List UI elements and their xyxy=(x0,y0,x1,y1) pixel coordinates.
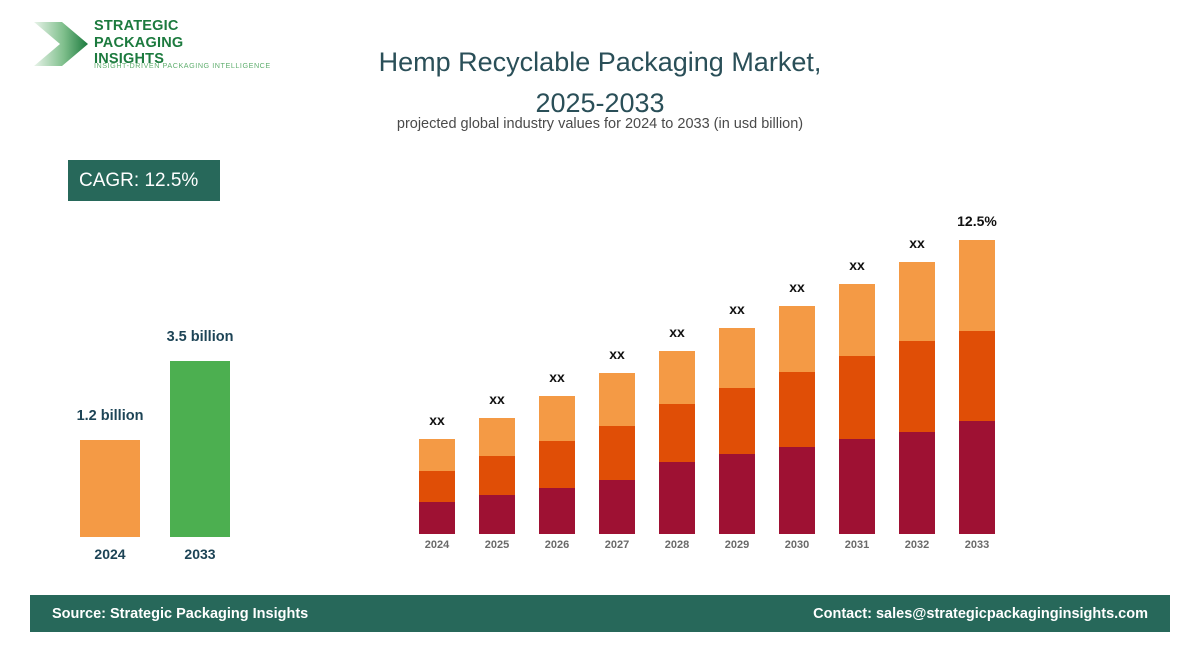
stacked-bar-2032 xyxy=(899,262,935,534)
stacked-bar-chart: xx2024xx2025xx2026xx2027xx2028xx2029xx20… xyxy=(0,0,1200,600)
stacked-bar-segment-segment-3-2033 xyxy=(959,240,995,331)
stacked-bar-value-label-2028: xx xyxy=(642,324,712,340)
stacked-bar-segment-segment-1-2031 xyxy=(839,439,875,534)
stacked-bar-segment-segment-2-2032 xyxy=(899,341,935,432)
stacked-bar-year-label-2033: 2033 xyxy=(942,539,1012,551)
stacked-bar-segment-segment-1-2033 xyxy=(959,421,995,534)
stacked-bar-segment-segment-3-2031 xyxy=(839,284,875,356)
stacked-bar-segment-segment-3-2032 xyxy=(899,262,935,341)
stacked-bar-value-label-2031: xx xyxy=(822,257,892,273)
stacked-bar-segment-segment-2-2026 xyxy=(539,441,575,488)
stacked-bar-segment-segment-2-2028 xyxy=(659,404,695,462)
stacked-bar-value-label-2029: xx xyxy=(702,301,772,317)
stacked-bar-segment-segment-3-2029 xyxy=(719,328,755,388)
stacked-bar-segment-segment-1-2029 xyxy=(719,454,755,534)
stacked-bar-2027 xyxy=(599,373,635,534)
stacked-bar-value-label-2026: xx xyxy=(522,369,592,385)
stacked-bar-segment-segment-2-2025 xyxy=(479,456,515,495)
stacked-bar-segment-segment-1-2025 xyxy=(479,495,515,534)
stacked-bar-2030 xyxy=(779,306,815,534)
stacked-bar-2025 xyxy=(479,418,515,534)
stacked-bar-2029 xyxy=(719,328,755,534)
stacked-bar-2026 xyxy=(539,396,575,534)
stacked-bar-2033 xyxy=(959,240,995,534)
stacked-bar-2028 xyxy=(659,351,695,534)
stacked-bar-segment-segment-1-2028 xyxy=(659,462,695,534)
footer-bar: Source: Strategic Packaging Insights Con… xyxy=(30,595,1170,632)
stacked-bar-segment-segment-2-2029 xyxy=(719,388,755,454)
stacked-bar-segment-segment-2-2033 xyxy=(959,331,995,421)
stacked-bar-segment-segment-3-2024 xyxy=(419,439,455,471)
stacked-bar-2024 xyxy=(419,439,455,534)
stacked-bar-value-label-2030: xx xyxy=(762,279,832,295)
stacked-bar-segment-segment-1-2027 xyxy=(599,480,635,534)
footer-contact: Contact: sales@strategicpackaginginsight… xyxy=(813,606,1148,622)
stacked-bar-segment-segment-2-2027 xyxy=(599,426,635,480)
stacked-bar-segment-segment-3-2027 xyxy=(599,373,635,426)
stacked-bar-segment-segment-1-2026 xyxy=(539,488,575,534)
stacked-bar-segment-segment-2-2030 xyxy=(779,372,815,447)
stacked-bar-segment-segment-3-2026 xyxy=(539,396,575,441)
stacked-bar-segment-segment-1-2030 xyxy=(779,447,815,534)
stacked-bar-segment-segment-3-2030 xyxy=(779,306,815,372)
stacked-bar-segment-segment-2-2024 xyxy=(419,471,455,502)
stacked-bar-segment-segment-2-2031 xyxy=(839,356,875,439)
footer-source: Source: Strategic Packaging Insights xyxy=(52,606,308,622)
stacked-bar-segment-segment-3-2025 xyxy=(479,418,515,456)
stacked-bar-segment-segment-1-2024 xyxy=(419,502,455,534)
stacked-bar-value-label-2032: xx xyxy=(882,235,952,251)
stacked-bar-value-label-2025: xx xyxy=(462,391,532,407)
stacked-bar-segment-segment-3-2028 xyxy=(659,351,695,404)
stacked-bar-value-label-2024: xx xyxy=(402,412,472,428)
stacked-bar-segment-segment-1-2032 xyxy=(899,432,935,534)
stacked-bar-value-label-2033: 12.5% xyxy=(942,213,1012,229)
stacked-bar-value-label-2027: xx xyxy=(582,346,652,362)
stacked-bar-2031 xyxy=(839,284,875,534)
